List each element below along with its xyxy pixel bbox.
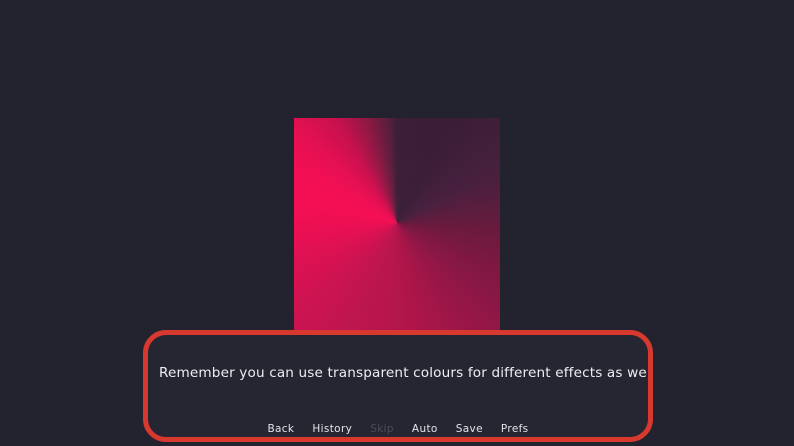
conic-gradient-swatch-image bbox=[294, 118, 500, 332]
quick-menu-item-back[interactable]: Back bbox=[267, 423, 294, 436]
artwork-container bbox=[294, 118, 500, 332]
dialogue-box[interactable]: Remember you can use transparent colours… bbox=[143, 330, 653, 442]
quick-menu-item-history[interactable]: History bbox=[312, 423, 352, 436]
quick-menu-item-skip: Skip bbox=[370, 423, 394, 436]
game-stage: Remember you can use transparent colours… bbox=[0, 0, 794, 446]
quick-menu-item-save[interactable]: Save bbox=[456, 423, 483, 436]
quick-menu-item-auto[interactable]: Auto bbox=[412, 423, 438, 436]
quick-menu: BackHistorySkipAutoSavePrefs bbox=[148, 423, 648, 436]
dialogue-text: Remember you can use transparent colours… bbox=[159, 364, 632, 383]
quick-menu-item-prefs[interactable]: Prefs bbox=[501, 423, 529, 436]
